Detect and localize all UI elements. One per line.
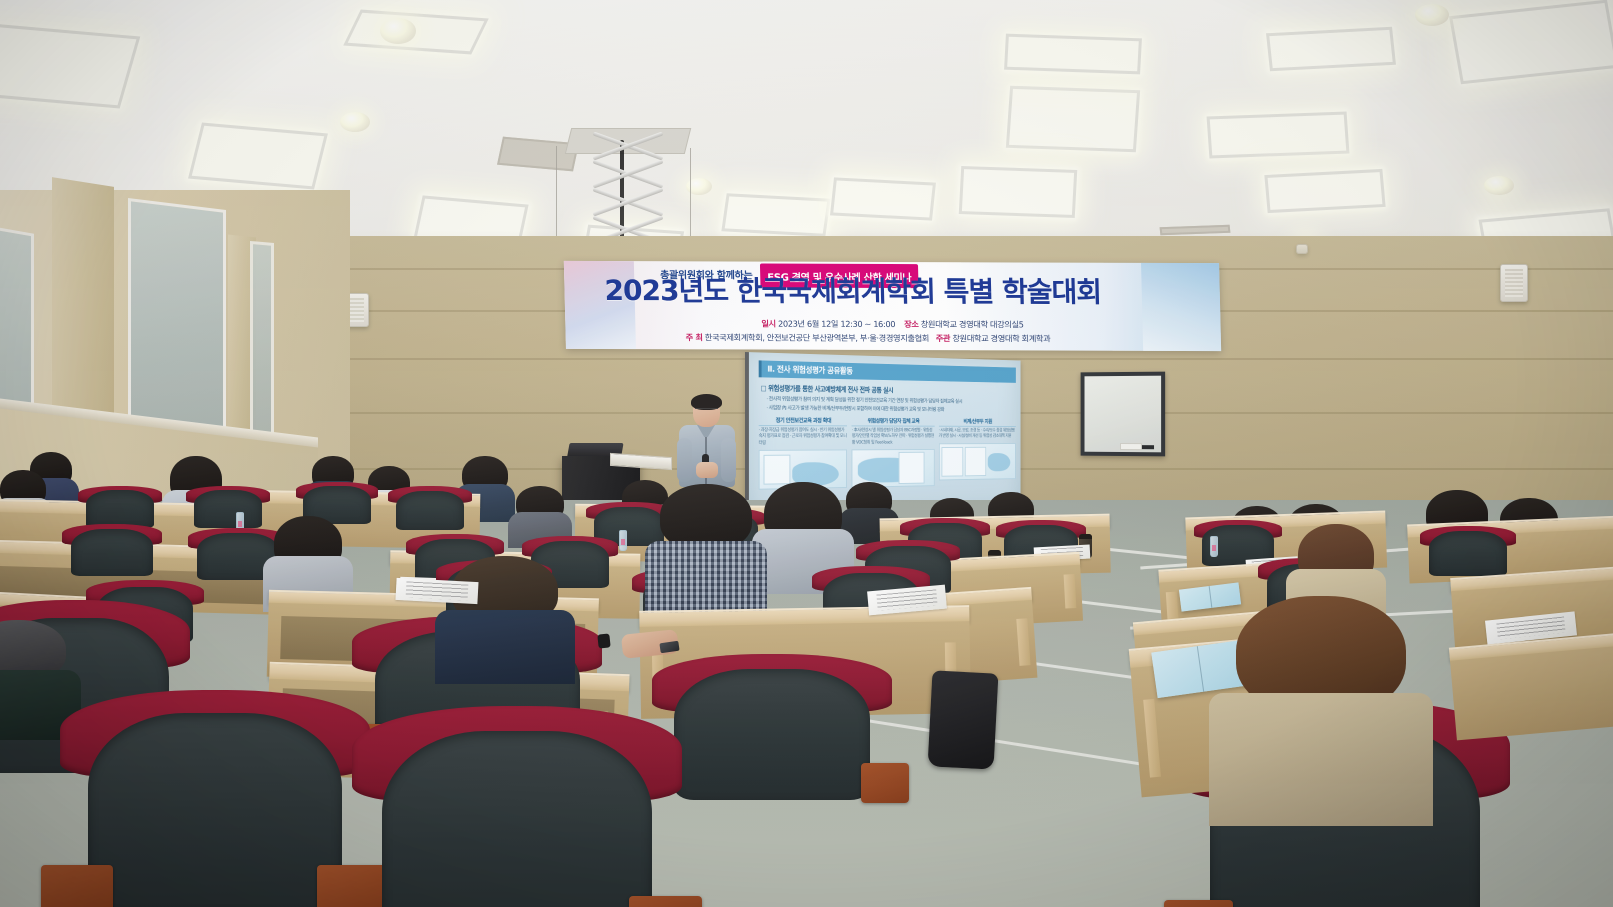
- attendee-navy-jacket: [452, 556, 558, 684]
- chair-armrest: [629, 896, 702, 907]
- slide-columns: 정기 안전보건교육 과정 확대 · 과장·차장급 위험성평가 참여도 실시 · …: [759, 416, 1016, 490]
- ceiling-panel-light: [721, 193, 830, 236]
- lecture-hall-photo: 총괄위원회와 함께하는 ESG 경영 및 우수사례 산학 세미나 2023년도 …: [0, 0, 1613, 907]
- auditorium-chair: [186, 486, 270, 530]
- banner-organizer-key: 주관: [936, 333, 951, 343]
- water-bottle: [1210, 536, 1218, 557]
- window-blind: [128, 198, 226, 445]
- slide-bullet: · 사업장 內 사고가 발생 가능한 비계/산부두/현장시 포함하여 이에 대한…: [766, 404, 1015, 413]
- ceiling-panel-light: [343, 10, 489, 55]
- handout-paper: [395, 578, 478, 604]
- ceiling-panel-light: [0, 23, 140, 108]
- slide-column: 정기 안전보건교육 과정 확대 · 과장·차장급 위험성평가 참여도 실시 · …: [759, 416, 848, 490]
- whiteboard-icon: [1081, 372, 1166, 457]
- banner-title: 2023년도 한국국제회계학회 특별 학술대회: [604, 277, 1101, 307]
- slide-column: 위험성평가 담당자 집체 교육 · 本사/현장시 별 위험성평가 담당자 BSC…: [852, 417, 935, 488]
- chair-armrest: [41, 865, 112, 907]
- chair-pad: [674, 669, 871, 800]
- slide-figure: [939, 443, 1016, 480]
- auditorium-chair-foreground: [352, 706, 682, 907]
- wristwatch: [597, 633, 610, 648]
- ceiling-panel-light: [1266, 27, 1396, 72]
- banner-date-value: 2023년 6월 12일 12:30 ~ 16:00: [778, 319, 895, 329]
- presenter-left-arm: [677, 438, 692, 482]
- slide-column-header: 정기 안전보건교육 과정 확대: [759, 416, 848, 426]
- whiteboard-eraser: [1120, 443, 1142, 450]
- ceiling-panel-light: [959, 166, 1078, 218]
- banner-host-organizer: 주 최 한국국제회계학회, 안전보건공단 부산광역본부, 부·울·경경영지출협회…: [686, 331, 1051, 344]
- slide-column-body: · 시내자재, 시공, 보강, 조경 등 · 수리/보수 점검 위험성평가 반영…: [939, 429, 1016, 441]
- ceiling-air-vent: [1160, 225, 1231, 235]
- banner-place-value: 창원대학교 경영대학 대강의실5: [921, 319, 1024, 329]
- ceiling-downlight: [1415, 4, 1449, 26]
- wall-speaker-icon: [1296, 244, 1308, 254]
- banner-place-key: 장소: [904, 319, 919, 329]
- ceiling-panel-light: [1207, 112, 1350, 159]
- ceiling-downlight: [340, 112, 370, 132]
- ceiling-panel-light: [1264, 169, 1385, 213]
- attendee-foreground-right: [1236, 596, 1406, 826]
- slide-column-body: · 本사/현장시 별 위험성평가 담당자 BSC과정별 · 위험성평가/안전별 …: [852, 428, 935, 447]
- chair-armrest: [861, 763, 909, 803]
- chair-pad: [88, 713, 342, 907]
- desk-row-foreground: [1449, 633, 1613, 728]
- banner-decoration-right: [1141, 263, 1221, 351]
- slide-title: Ⅱ. 전사 위험성평가 공유활동: [759, 360, 1016, 382]
- slide-heading: □ 위험성평가를 통한 사고예방체계 전사 전파 공통 실시: [761, 382, 1016, 396]
- banner-host-key: 주 최: [686, 332, 703, 342]
- attendee-foreground-left: [0, 620, 66, 740]
- chair-pad: [382, 731, 653, 907]
- attendee-torso: [435, 610, 575, 684]
- desk-front: [1450, 645, 1613, 740]
- presenter-hands: [696, 462, 718, 478]
- attendee-torso: [1209, 693, 1433, 826]
- wall-speaker-icon: [1500, 264, 1528, 302]
- chair-armrest: [1164, 900, 1233, 907]
- banner-organizer-value: 창원대학교 경영대학 회계학과: [952, 333, 1050, 343]
- banner-date-key: 일시: [761, 319, 776, 329]
- chair-pad: [396, 491, 465, 531]
- auditorium-chair-foreground: [60, 690, 370, 907]
- slide-column: 비계/산부두 지원 · 시내자재, 시공, 보강, 조경 등 · 수리/보수 점…: [939, 417, 1016, 486]
- ceiling-panel-light: [830, 177, 936, 220]
- ceiling-downlight: [380, 18, 416, 44]
- auditorium-chair: [388, 486, 472, 532]
- event-banner: 총괄위원회와 함께하는 ESG 경영 및 우수사례 산학 세미나 2023년도 …: [564, 261, 1221, 351]
- banner-datetime-venue: 일시 2023년 6월 12일 12:30 ~ 16:00 장소 창원대학교 경…: [761, 318, 1023, 331]
- slide-column-header: 위험성평가 담당자 집체 교육: [852, 417, 935, 427]
- water-bottle: [619, 530, 627, 551]
- slide-column-header: 비계/산부두 지원: [939, 417, 1016, 427]
- whiteboard-marker: [1142, 445, 1154, 449]
- ceiling-downlight: [1484, 176, 1514, 195]
- auditorium-chair: [62, 524, 162, 578]
- chair-pad: [1429, 531, 1508, 576]
- chair-pad: [86, 490, 155, 528]
- ceiling-panel-light: [1006, 86, 1140, 153]
- ceiling-panel-light: [188, 122, 328, 189]
- chair-pad: [71, 529, 153, 575]
- auditorium-chair: [1420, 526, 1516, 578]
- ceiling-panel-light: [1004, 34, 1142, 75]
- slide-column-body: · 과장·차장급 위험성평가 참여도 실시 · 반기 위험성평가 숙지 평가표로…: [759, 428, 848, 447]
- auditorium-chair: [652, 654, 892, 806]
- banner-host-value: 한국국제회계학회, 안전보건공단 부산광역본부, 부·울·경경영지출협회: [705, 332, 929, 343]
- chair-pad: [194, 490, 263, 528]
- presenter-right-arm: [721, 438, 736, 482]
- backpack: [928, 670, 999, 769]
- presenter-glasses: [695, 408, 718, 413]
- ceiling-panel-light: [1449, 0, 1613, 84]
